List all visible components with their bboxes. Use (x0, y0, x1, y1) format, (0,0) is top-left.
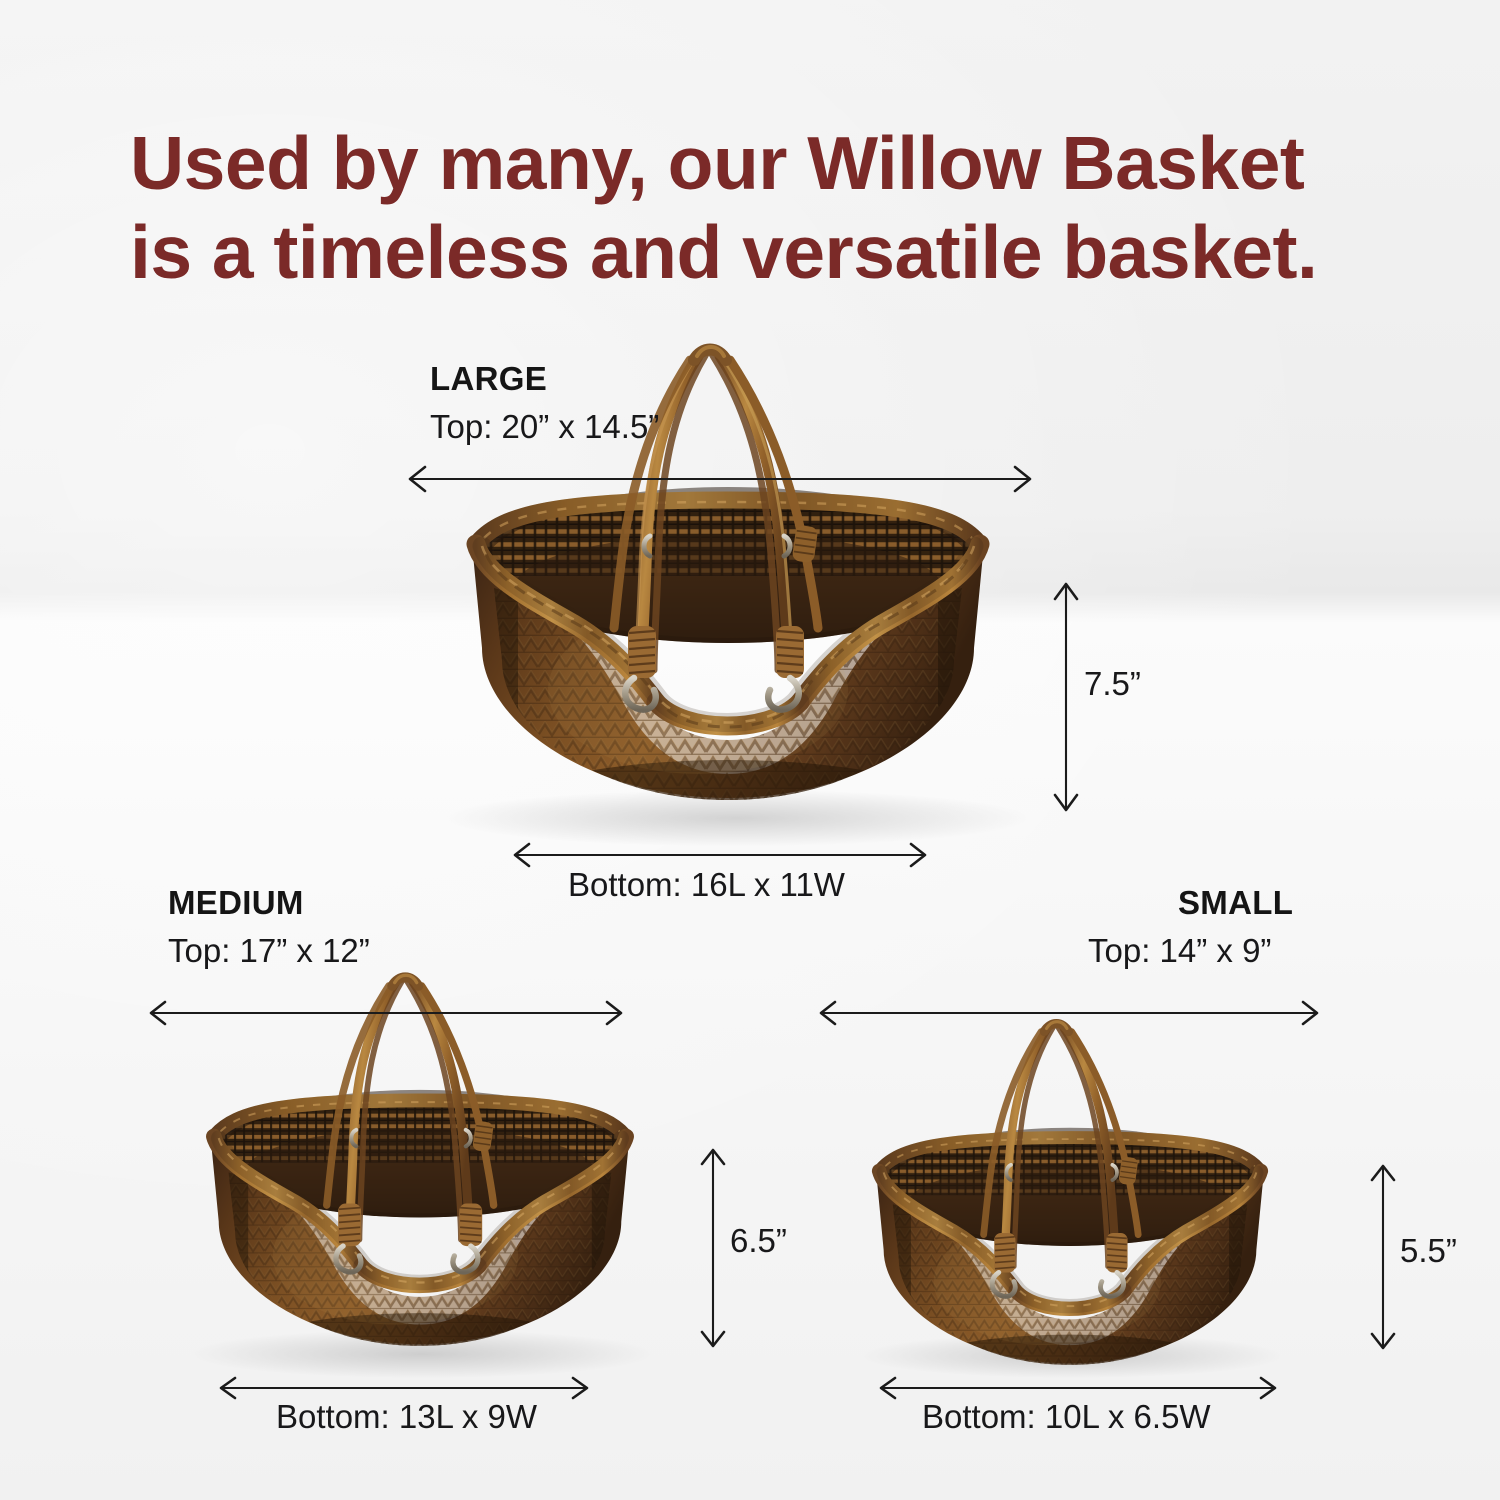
bottom-dimension-small: Bottom: 10L x 6.5W (922, 1398, 1211, 1436)
size-label-medium: MEDIUM (168, 884, 304, 922)
size-chart-canvas: Used by many, our Willow Basket is a tim… (0, 0, 1500, 1500)
width-arrow-medium (146, 998, 626, 1028)
height-arrow-large (1050, 578, 1082, 816)
wicker-basket-icon (398, 330, 1058, 840)
height-arrow-small (1368, 1160, 1398, 1354)
height-arrow-medium (698, 1144, 728, 1352)
size-top-dimension-small: Top: 14” x 9” (1088, 932, 1271, 970)
basket-image-small (820, 1008, 1320, 1396)
page-title: Used by many, our Willow Basket is a tim… (130, 126, 1420, 290)
size-label-small: SMALL (1178, 884, 1293, 922)
basket-image-large (398, 330, 1058, 840)
wicker-basket-icon (820, 1008, 1320, 1396)
height-value-large: 7.5” (1084, 665, 1141, 703)
headline-line-1: Used by many, our Willow Basket (130, 126, 1420, 201)
width-arrow-large (404, 462, 1036, 496)
bottom-dimension-medium: Bottom: 13L x 9W (276, 1398, 537, 1436)
size-top-dimension-large: Top: 20” x 14.5” (430, 408, 659, 446)
height-value-medium: 6.5” (730, 1222, 787, 1260)
size-label-large: LARGE (430, 360, 547, 398)
size-top-dimension-medium: Top: 17” x 12” (168, 932, 370, 970)
bottom-dimension-large: Bottom: 16L x 11W (568, 866, 845, 904)
width-arrow-small (816, 998, 1322, 1028)
height-value-small: 5.5” (1400, 1232, 1457, 1270)
headline-line-2: is a timeless and versatile basket. (130, 215, 1420, 290)
